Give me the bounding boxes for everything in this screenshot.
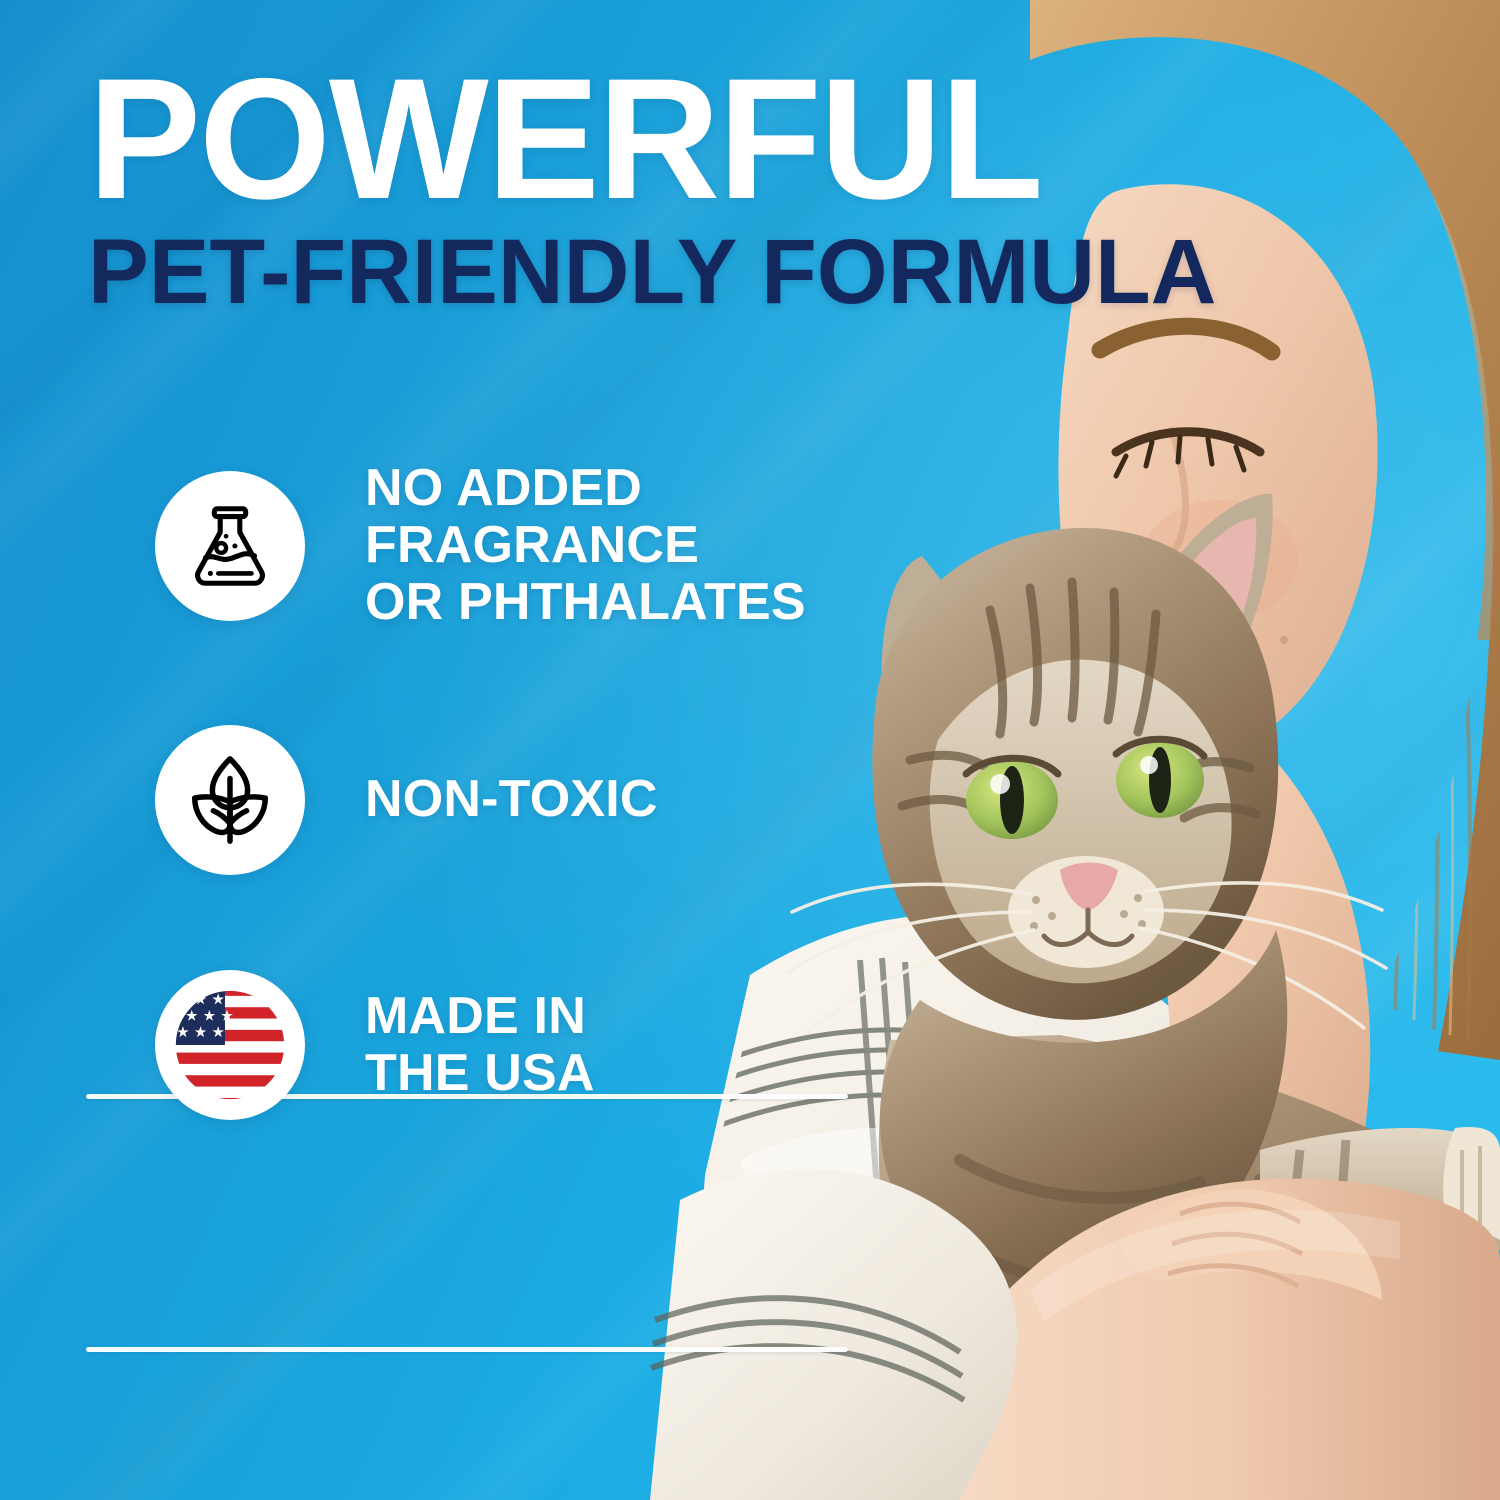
feature-row-made-in-usa: MADE IN THE USA (0, 970, 900, 1120)
feature-icon-badge (155, 471, 305, 621)
promo-banner: POWERFUL PET-FRIENDLY FORMULA (0, 0, 1500, 1500)
headline-primary: POWERFUL (88, 60, 1398, 220)
feature-row-non-toxic: NON-TOXIC (0, 725, 900, 875)
headline-secondary: PET-FRIENDLY FORMULA (88, 226, 1405, 318)
feature-label: NO ADDED FRAGRANCE OR PHTHALATES (365, 460, 806, 632)
usa-flag-icon (167, 982, 293, 1108)
feature-divider-2 (86, 1347, 848, 1352)
feature-icon-badge (155, 970, 305, 1120)
flask-icon (181, 497, 279, 595)
headline-block: POWERFUL PET-FRIENDLY FORMULA (88, 60, 1418, 318)
leaf-plant-icon (181, 751, 279, 849)
feature-icon-badge (155, 725, 305, 875)
feature-row-no-added-fragrance: NO ADDED FRAGRANCE OR PHTHALATES (0, 460, 900, 632)
feature-label: NON-TOXIC (365, 771, 658, 828)
feature-label: MADE IN THE USA (365, 988, 595, 1102)
